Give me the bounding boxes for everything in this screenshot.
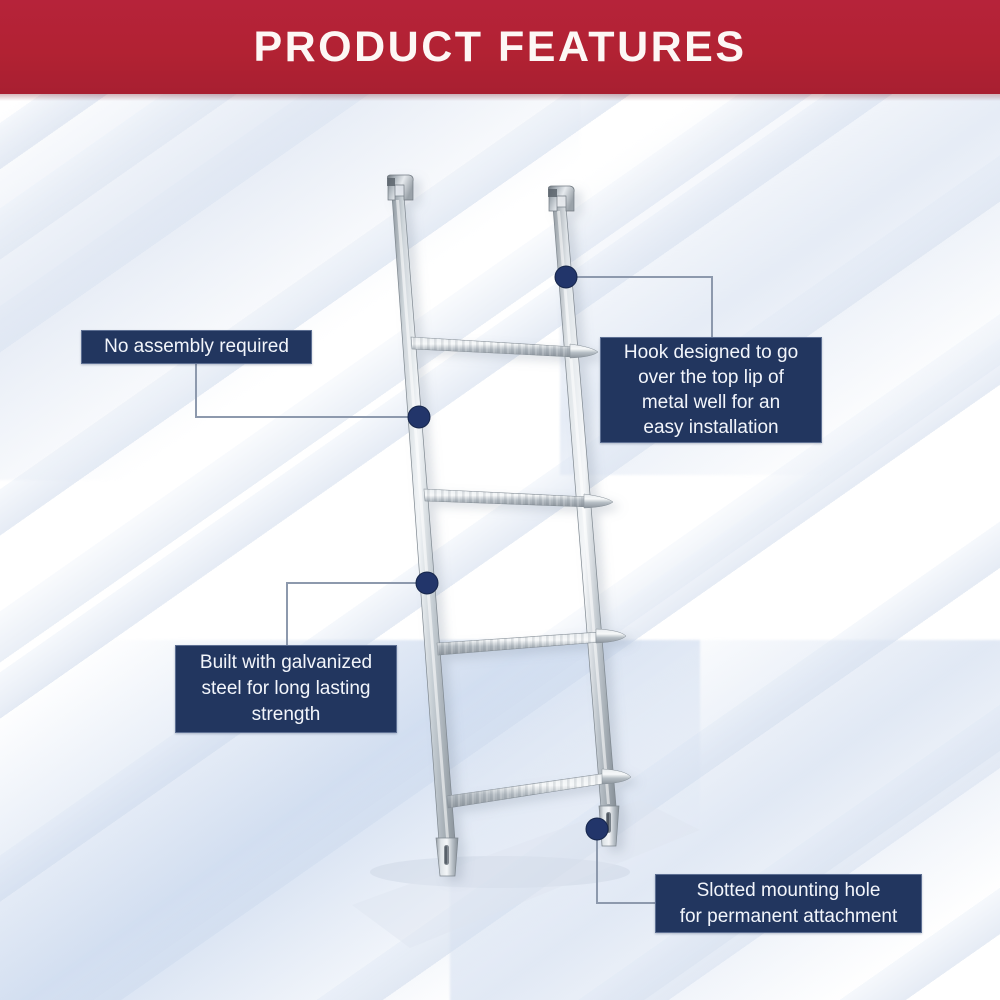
callout-hook-design: Hook designed to go over the top lip of … <box>600 337 822 443</box>
callout-line: Slotted mounting hole <box>697 878 881 904</box>
callout-line: No assembly required <box>104 335 289 359</box>
callout-line: Built with galvanized <box>200 650 372 676</box>
product-image-ladder <box>0 0 1000 1000</box>
header-banner: PRODUCT FEATURES <box>0 0 1000 94</box>
callout-galvanized-steel: Built with galvanized steel for long las… <box>175 645 397 733</box>
callout-line: easy installation <box>643 415 778 440</box>
callout-line: Hook designed to go <box>624 340 798 365</box>
callout-line: metal well for an <box>642 390 780 415</box>
callout-no-assembly: No assembly required <box>81 330 312 364</box>
product-features-infographic: PRODUCT FEATURES No assembly required Ho… <box>0 0 1000 1000</box>
callout-slotted-mounting-hole: Slotted mounting hole for permanent atta… <box>655 874 922 933</box>
callout-line: for permanent attachment <box>680 904 898 930</box>
callout-line: over the top lip of <box>638 365 784 390</box>
page-title: PRODUCT FEATURES <box>253 26 746 69</box>
callout-line: steel for long lasting <box>202 676 371 702</box>
callout-line: strength <box>252 702 321 728</box>
header-drop-shadow <box>0 94 1000 101</box>
